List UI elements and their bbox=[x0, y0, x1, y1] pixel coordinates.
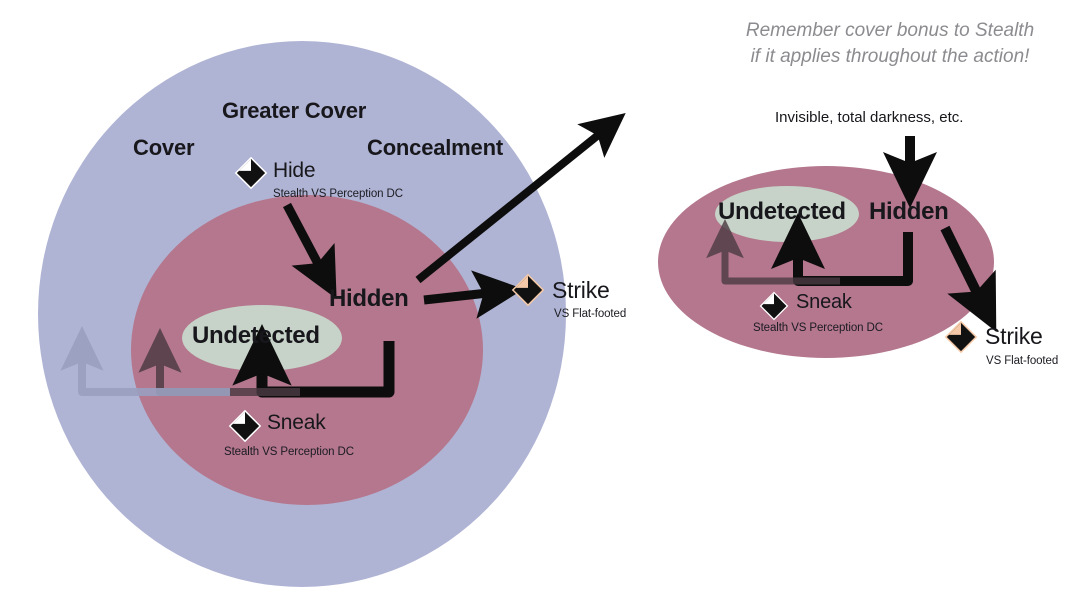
diagram-canvas: Greater Cover Cover Concealment Hidden U… bbox=[0, 0, 1080, 615]
action-label-sneak: Sneak bbox=[796, 292, 852, 313]
action-diamond-icon bbox=[228, 409, 262, 443]
caption-invisible-total-darkness: Invisible, total darkness, etc. bbox=[775, 110, 963, 126]
strike-diamond-icon bbox=[511, 273, 545, 307]
note-line-1: Remember cover bonus to Stealth bbox=[716, 18, 1064, 44]
state-label-undetected-right: Undetected bbox=[718, 199, 846, 224]
note-text: Remember cover bonus to Stealth if it ap… bbox=[716, 18, 1064, 69]
note-line-2: if it applies throughout the action! bbox=[716, 44, 1064, 70]
action-diamond-icon bbox=[759, 291, 789, 321]
action-sub-strike: VS Flat-footed bbox=[986, 355, 1058, 367]
action-sub-hide: Stealth VS Perception DC bbox=[273, 188, 403, 200]
state-label-undetected-left: Undetected bbox=[192, 323, 320, 348]
action-label-strike: Strike bbox=[552, 278, 610, 302]
action-diamond-icon bbox=[234, 156, 268, 190]
action-sub-sneak: Stealth VS Perception DC bbox=[753, 322, 883, 334]
action-sub-strike: VS Flat-footed bbox=[554, 308, 626, 320]
zone-label-cover: Cover bbox=[133, 136, 194, 159]
action-label-hide: Hide bbox=[273, 160, 315, 182]
action-label-sneak: Sneak bbox=[267, 412, 326, 434]
zone-label-concealment: Concealment bbox=[367, 136, 503, 159]
strike-diamond-icon bbox=[944, 320, 978, 354]
action-sub-sneak: Stealth VS Perception DC bbox=[224, 446, 354, 458]
diagram-shapes bbox=[0, 0, 1080, 615]
state-label-hidden-right: Hidden bbox=[869, 199, 949, 224]
zone-label-greater-cover: Greater Cover bbox=[222, 99, 366, 122]
state-label-hidden-left: Hidden bbox=[329, 286, 409, 311]
action-label-strike: Strike bbox=[985, 324, 1043, 348]
